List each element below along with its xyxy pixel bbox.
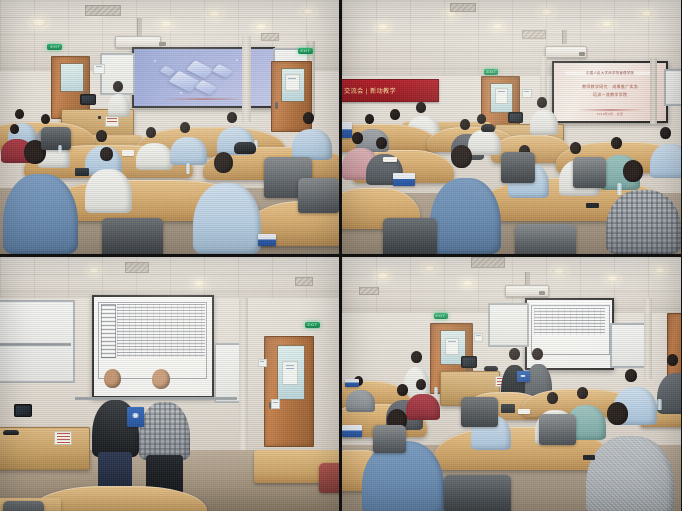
chair [41, 127, 72, 150]
papers [122, 150, 134, 156]
ceiling-light [193, 280, 205, 287]
collage-panel-bottom-left: EXIT [0, 257, 339, 511]
ceiling [0, 257, 339, 298]
phone [583, 455, 595, 460]
slide-outer-frame [98, 302, 207, 379]
event-banner-text: 交流会 | 新动教学 [344, 86, 396, 95]
whiteboard [664, 69, 681, 106]
collage-panel-bottom-right: EXIT [342, 257, 681, 511]
wall-notice [271, 399, 280, 409]
water-bottle [657, 399, 662, 410]
ceiling-light [491, 23, 504, 30]
event-banner: 交流会 | 新动教学 [342, 79, 439, 103]
projector-arm [562, 30, 567, 44]
certificate-folder [517, 371, 530, 382]
monitor [14, 404, 32, 417]
person-attendee-foreground [430, 145, 501, 254]
person-speaker [105, 81, 132, 117]
legs [98, 452, 132, 490]
exit-sign-label: EXIT [50, 46, 60, 50]
wall-pillar [242, 36, 251, 122]
wall-notice [258, 359, 267, 367]
ceiling-light [423, 265, 436, 272]
phone [586, 203, 599, 208]
person-attendee [136, 127, 173, 170]
chair [383, 218, 437, 254]
ceiling-vent [450, 3, 476, 12]
chair [461, 397, 498, 427]
exit-sign-label: EXIT [436, 314, 446, 318]
chair [102, 218, 163, 254]
ceiling-vent [359, 287, 379, 295]
podium-notice [54, 431, 72, 445]
bag [481, 124, 495, 132]
collage-panel-top-left: EXIT EXIT [0, 0, 339, 254]
projection-screen [134, 49, 273, 106]
wall-column [650, 58, 657, 124]
exit-sign: EXIT [484, 69, 498, 75]
head [152, 369, 170, 389]
equipment [484, 366, 498, 371]
water-bottle [617, 183, 622, 195]
exit-sign-label: EXIT [486, 70, 496, 74]
monitor [508, 112, 523, 123]
ceiling-light [254, 23, 268, 31]
exit-sign: EXIT [298, 48, 313, 54]
ceiling-vent [295, 277, 313, 286]
ceiling-light [539, 8, 554, 16]
person-attendee-foreground [606, 160, 681, 254]
ceiling-light [606, 275, 619, 282]
projector-lens [539, 291, 545, 295]
person-attendee-foreground [193, 152, 261, 254]
blue-folder [342, 425, 362, 437]
ceiling-vent [471, 257, 505, 268]
person-award-recipient [92, 369, 139, 488]
ceiling-vent [85, 5, 121, 16]
water-bottle [186, 163, 190, 174]
person-attendee [85, 147, 132, 213]
monitor [461, 356, 477, 368]
papers [518, 409, 530, 414]
blue-folder [393, 173, 415, 186]
ceiling-light [461, 280, 474, 287]
exit-sign: EXIT [47, 44, 62, 50]
projector [115, 36, 161, 48]
chair [373, 425, 407, 453]
equipment [3, 430, 19, 435]
projection-screen: 中国人民大学商学院管理学院 教师教学研究 · 成果推广实务 培训一流教学学院 2… [554, 63, 666, 121]
chair [515, 224, 576, 254]
ceiling-light [376, 23, 390, 31]
chair [444, 475, 512, 511]
person-attendee-foreground [586, 402, 674, 511]
laptop [75, 168, 89, 176]
torso [139, 402, 190, 460]
collage-panel-top-right: 中国人民大学商学院管理学院 教师教学研究 · 成果推广实务 培训一流教学学院 2… [342, 0, 681, 254]
chair [501, 152, 535, 182]
wall-pillar [239, 298, 248, 450]
wall-notice [93, 64, 105, 74]
whiteboard [610, 323, 648, 368]
certificate-folder [127, 407, 144, 427]
wall-notice [474, 333, 483, 342]
ceiling-light [31, 18, 47, 27]
ceiling-vent [125, 262, 149, 273]
laptop [501, 404, 515, 413]
exit-sign-label: EXIT [301, 49, 311, 53]
ceiling-light [207, 10, 222, 18]
projector-lens [579, 52, 585, 56]
monitor [80, 94, 96, 105]
chair [298, 178, 339, 214]
whiteboard [488, 303, 529, 348]
chair [319, 463, 339, 493]
exit-sign: EXIT [434, 313, 448, 319]
monitor-stand [98, 116, 101, 119]
water-bottle [58, 145, 62, 153]
exit-sign-label: EXIT [308, 323, 318, 327]
person-attendee [292, 112, 333, 160]
projection-screen-frame [132, 47, 275, 108]
ceiling-light [302, 8, 315, 15]
person-award-presenter [139, 369, 190, 496]
whiteboard [0, 300, 75, 383]
wall-pillar [644, 298, 652, 379]
person-attendee-foreground [3, 140, 78, 254]
chair [539, 414, 576, 444]
water-bottle [434, 387, 438, 395]
blue-folder [345, 379, 359, 387]
door[interactable] [264, 336, 313, 447]
exit-sign: EXIT [305, 322, 320, 328]
projector-lens [159, 42, 166, 46]
photo-collage: EXIT EXIT [0, 0, 682, 511]
podium-notice [105, 116, 119, 127]
person-presenter [528, 97, 559, 135]
head [104, 369, 121, 388]
blue-folder [258, 234, 276, 246]
chair [573, 157, 607, 187]
ceiling-vent [261, 33, 279, 41]
ceiling-vent [522, 30, 546, 39]
papers [383, 157, 397, 162]
blue-folder [342, 122, 352, 138]
chair [3, 501, 44, 511]
whiteboard-ledge [0, 343, 71, 346]
bag [234, 142, 256, 154]
